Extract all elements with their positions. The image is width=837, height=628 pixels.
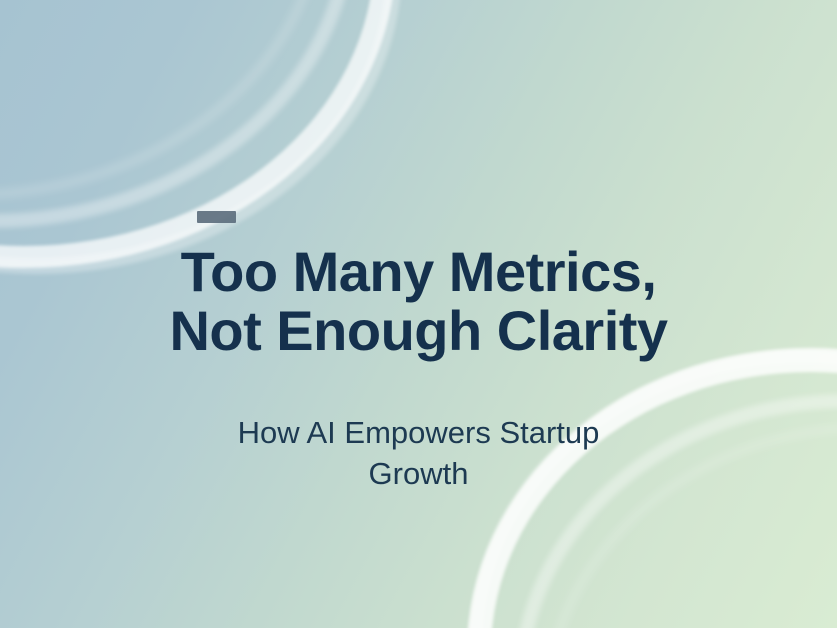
slide-content: Too Many Metrics, Not Enough Clarity How… [0,0,837,628]
slide-subtitle: How AI Empowers Startup Growth [118,412,719,494]
slide-title: Too Many Metrics, Not Enough Clarity [0,242,837,362]
title-slide: Too Many Metrics, Not Enough Clarity How… [0,0,837,628]
text-caret-artifact [197,211,236,223]
